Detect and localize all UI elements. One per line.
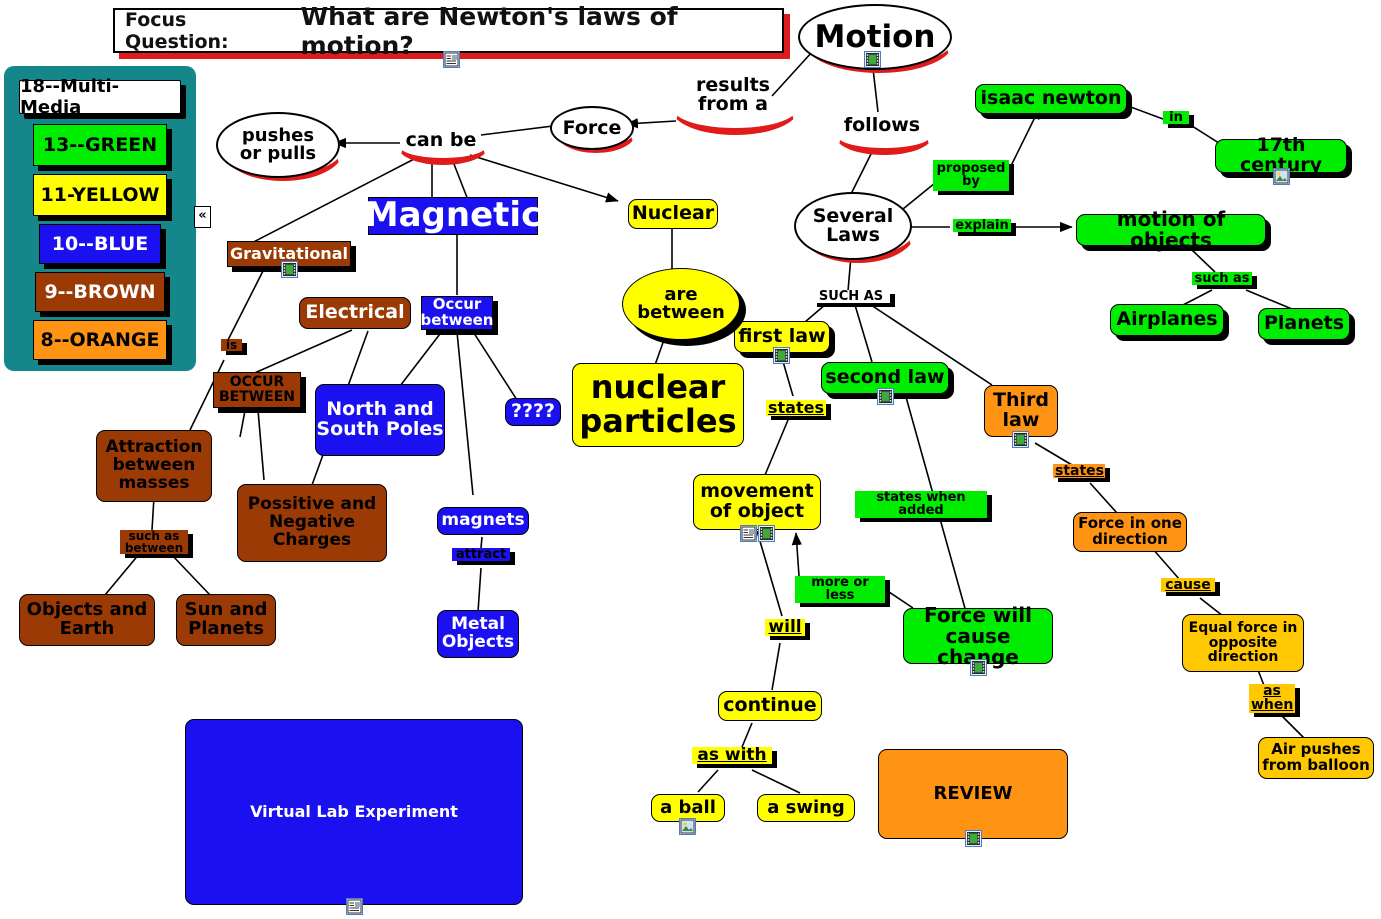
link-states-when-added: states when added [855,491,987,518]
concept-attraction-between-masses-label: Attraction between masses [105,439,202,493]
concept-magnets-label: magnets [441,512,524,530]
concept-nuclear-label: Nuclear [632,204,714,224]
concept-several-laws-label: Several Laws [813,207,894,245]
concept-planets-label: Planets [1264,314,1344,334]
legend-item-orange[interactable]: 8--ORANGE [33,320,167,360]
link-such-as-caps: SUCH AS [812,290,890,303]
concept-second-law-label: second law [825,368,944,388]
concept-occur-between-brown-label: OCCUR BETWEEN [219,375,295,404]
legend-item-yellow[interactable]: 11-YELLOW [33,174,167,216]
film-strip-icon[interactable] [864,51,881,68]
concept-north-south-poles[interactable]: North and South Poles [315,384,445,456]
film-strip-icon[interactable] [877,388,894,405]
concept-planets[interactable]: Planets [1258,308,1350,340]
concept-movement-of-object[interactable]: movement of object [693,474,821,530]
concept-airplanes-label: Airplanes [1116,310,1217,330]
concept-positive-negative-charges[interactable]: Possitive and Negative Charges [237,484,387,562]
document-icon[interactable] [740,525,757,542]
link-results-from-a: results from a [676,76,790,114]
concept-north-south-poles-label: North and South Poles [316,400,443,440]
concept-gravitational-label: Gravitational [230,246,348,263]
collapse-panel-button[interactable]: « [194,206,211,228]
link-more-or-less: more or less [795,576,885,603]
concept-metal-objects-label: Metal Objects [442,616,514,652]
legend-item-blue[interactable]: 10--BLUE [39,224,161,264]
concept-continue-label: continue [723,696,816,716]
concept-virtual-lab-experiment-label: Virtual Lab Experiment [250,804,458,821]
concept-force-in-one-direction[interactable]: Force in one direction [1073,512,1187,552]
concept-review-label: REVIEW [934,785,1013,804]
concept-virtual-lab-experiment[interactable]: Virtual Lab Experiment [185,719,523,905]
concept-isaac-newton-label: isaac newton [981,89,1122,109]
concept-unknown[interactable]: ???? [505,398,561,426]
concept-force-in-one-direction-label: Force in one direction [1078,516,1182,548]
concept-force-label: Force [563,119,622,138]
concept-electrical-label: Electrical [305,303,404,323]
concept-a-swing-label: a swing [767,799,845,818]
document-icon[interactable] [346,898,363,915]
film-strip-icon[interactable] [970,659,987,676]
concept-pushes-or-pulls-label: pushes or pulls [240,127,316,163]
link-in: in [1163,111,1189,124]
film-strip-icon[interactable] [1012,431,1029,448]
link-is: is [221,339,242,351]
legend-title[interactable]: 18--Multi-Media [19,80,181,114]
document-icon[interactable] [443,51,460,68]
concept-review[interactable]: REVIEW [878,749,1068,839]
link-such-as-between: such as between [120,530,188,554]
concept-isaac-newton[interactable]: isaac newton [975,84,1127,114]
concept-movement-of-object-label: movement of object [700,482,813,522]
link-states-third-law: states [1053,464,1105,478]
film-strip-icon[interactable] [773,347,790,364]
concept-occur-between-brown[interactable]: OCCUR BETWEEN [213,372,301,408]
link-as-with: as with [692,747,772,764]
concept-air-pushes-from-balloon[interactable]: Air pushes from balloon [1258,737,1374,779]
concept-pushes-or-pulls[interactable]: pushes or pulls [216,112,340,178]
legend-item-green[interactable]: 13--GREEN [33,124,167,166]
film-strip-icon[interactable] [758,525,775,542]
link-cause: cause [1161,578,1215,592]
concept-are-between-label: are between [637,286,725,322]
concept-magnets[interactable]: magnets [437,507,529,535]
concept-objects-and-earth-label: Objects and Earth [27,601,148,639]
concept-map-canvas: Focus Question: What are Newton's laws o… [0,0,1381,919]
focus-question-label: Focus Question: [125,9,291,53]
concept-nuclear[interactable]: Nuclear [628,199,718,229]
concept-a-ball-label: a ball [660,799,716,818]
concept-third-law-label: Third law [993,391,1049,431]
concept-electrical[interactable]: Electrical [299,297,411,329]
link-attract: attract [452,548,510,561]
concept-unknown-label: ???? [511,402,555,422]
concept-motion-of-objects-label: motion of objects [1077,209,1265,251]
concept-metal-objects[interactable]: Metal Objects [437,610,519,658]
concept-equal-force-opposite-direction[interactable]: Equal force in opposite direction [1182,614,1304,672]
legend-item-brown[interactable]: 9--BROWN [35,272,165,312]
concept-force-will-cause-change[interactable]: Force will cause change [903,608,1053,664]
concept-third-law[interactable]: Third law [984,385,1058,437]
concept-sun-and-planets[interactable]: Sun and Planets [176,594,276,646]
concept-air-pushes-from-balloon-label: Air pushes from balloon [1262,742,1370,774]
link-explain: explain [953,219,1011,232]
concept-first-law-label: first law [738,327,825,347]
concept-positive-negative-charges-label: Possitive and Negative Charges [248,496,376,550]
concept-attraction-between-masses[interactable]: Attraction between masses [96,430,212,502]
legend-panel: 18--Multi-Media 13--GREEN 11-YELLOW 10--… [4,66,196,371]
concept-nuclear-particles[interactable]: nuclear particles [572,363,744,447]
concept-nuclear-particles-label: nuclear particles [579,371,736,438]
link-as-when: as when [1249,684,1295,713]
link-proposed-by: proposed by [933,160,1009,191]
link-follows: follows [838,116,926,135]
picture-icon[interactable] [679,818,696,835]
link-states-first-law: states [766,400,826,416]
concept-occur-between-blue[interactable]: Occur between [421,296,493,330]
film-strip-icon[interactable] [281,261,298,278]
concept-magnetic-label: Magnetic [365,198,541,234]
concept-a-swing[interactable]: a swing [757,794,855,822]
concept-objects-and-earth[interactable]: Objects and Earth [19,594,155,646]
concept-equal-force-opposite-direction-label: Equal force in opposite direction [1189,621,1298,665]
focus-question-text: What are Newton's laws of motion? [301,2,782,60]
focus-question-box: Focus Question: What are Newton's laws o… [113,8,784,53]
concept-motion-label: Motion [815,22,936,53]
film-strip-icon[interactable] [965,830,982,847]
concept-motion-of-objects[interactable]: motion of objects [1076,214,1266,246]
link-will: will [765,619,805,636]
link-such-as-green: such as [1192,272,1252,285]
concept-magnetic[interactable]: Magnetic [368,197,538,235]
concept-sun-and-planets-label: Sun and Planets [185,601,268,639]
concept-are-between[interactable]: are between [622,268,740,340]
concept-several-laws[interactable]: Several Laws [794,192,912,260]
concept-airplanes[interactable]: Airplanes [1110,304,1224,336]
concept-occur-between-blue-label: Occur between [421,297,494,329]
picture-icon[interactable] [1273,168,1290,185]
concept-force[interactable]: Force [550,106,634,150]
concept-continue[interactable]: continue [718,691,822,721]
link-can-be: can be [400,131,482,150]
